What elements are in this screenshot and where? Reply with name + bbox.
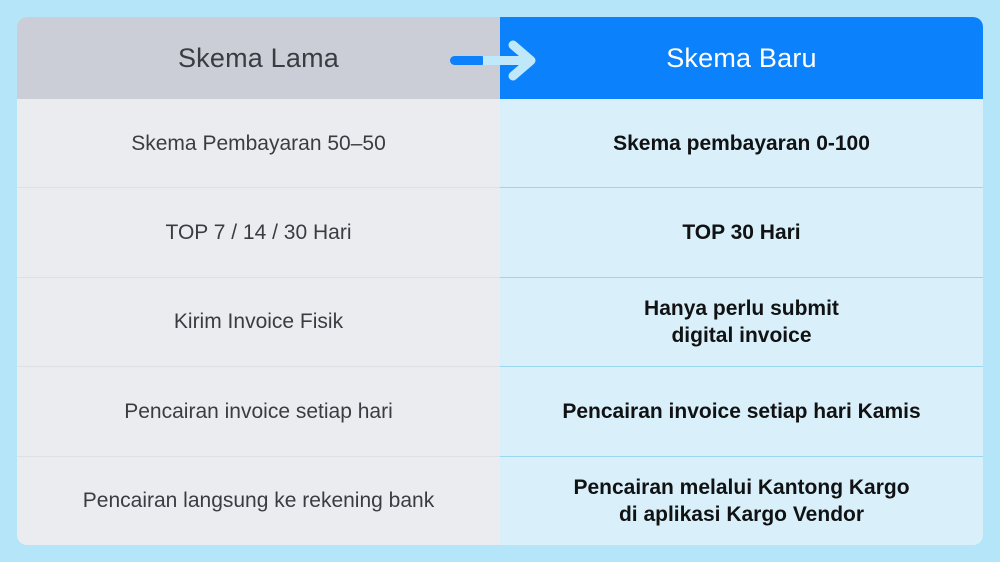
table-row: TOP 30 Hari [500, 187, 983, 276]
table-row: Hanya perlu submitdigital invoice [500, 277, 983, 366]
rows-skema-lama: Skema Pembayaran 50–50 TOP 7 / 14 / 30 H… [17, 99, 500, 545]
column-header-skema-baru: Skema Baru [500, 17, 983, 99]
table-row: Pencairan langsung ke rekening bank [17, 456, 500, 545]
table-row: Pencairan invoice setiap hari Kamis [500, 366, 983, 455]
table-row: TOP 7 / 14 / 30 Hari [17, 187, 500, 276]
table-row: Pencairan invoice setiap hari [17, 366, 500, 455]
table-row: Pencairan melalui Kantong Kargodi aplika… [500, 456, 983, 545]
comparison-infographic: Skema Lama Skema Pembayaran 50–50 TOP 7 … [0, 0, 1000, 562]
column-skema-lama: Skema Lama Skema Pembayaran 50–50 TOP 7 … [17, 17, 500, 545]
rows-skema-baru: Skema pembayaran 0-100 TOP 30 Hari Hanya… [500, 99, 983, 545]
table-row: Skema Pembayaran 50–50 [17, 99, 500, 187]
column-skema-baru: Skema Baru Skema pembayaran 0-100 TOP 30… [500, 17, 983, 545]
table-row: Kirim Invoice Fisik [17, 277, 500, 366]
column-header-skema-lama: Skema Lama [17, 17, 500, 99]
table-row: Skema pembayaran 0-100 [500, 99, 983, 187]
comparison-table: Skema Lama Skema Pembayaran 50–50 TOP 7 … [17, 17, 983, 545]
